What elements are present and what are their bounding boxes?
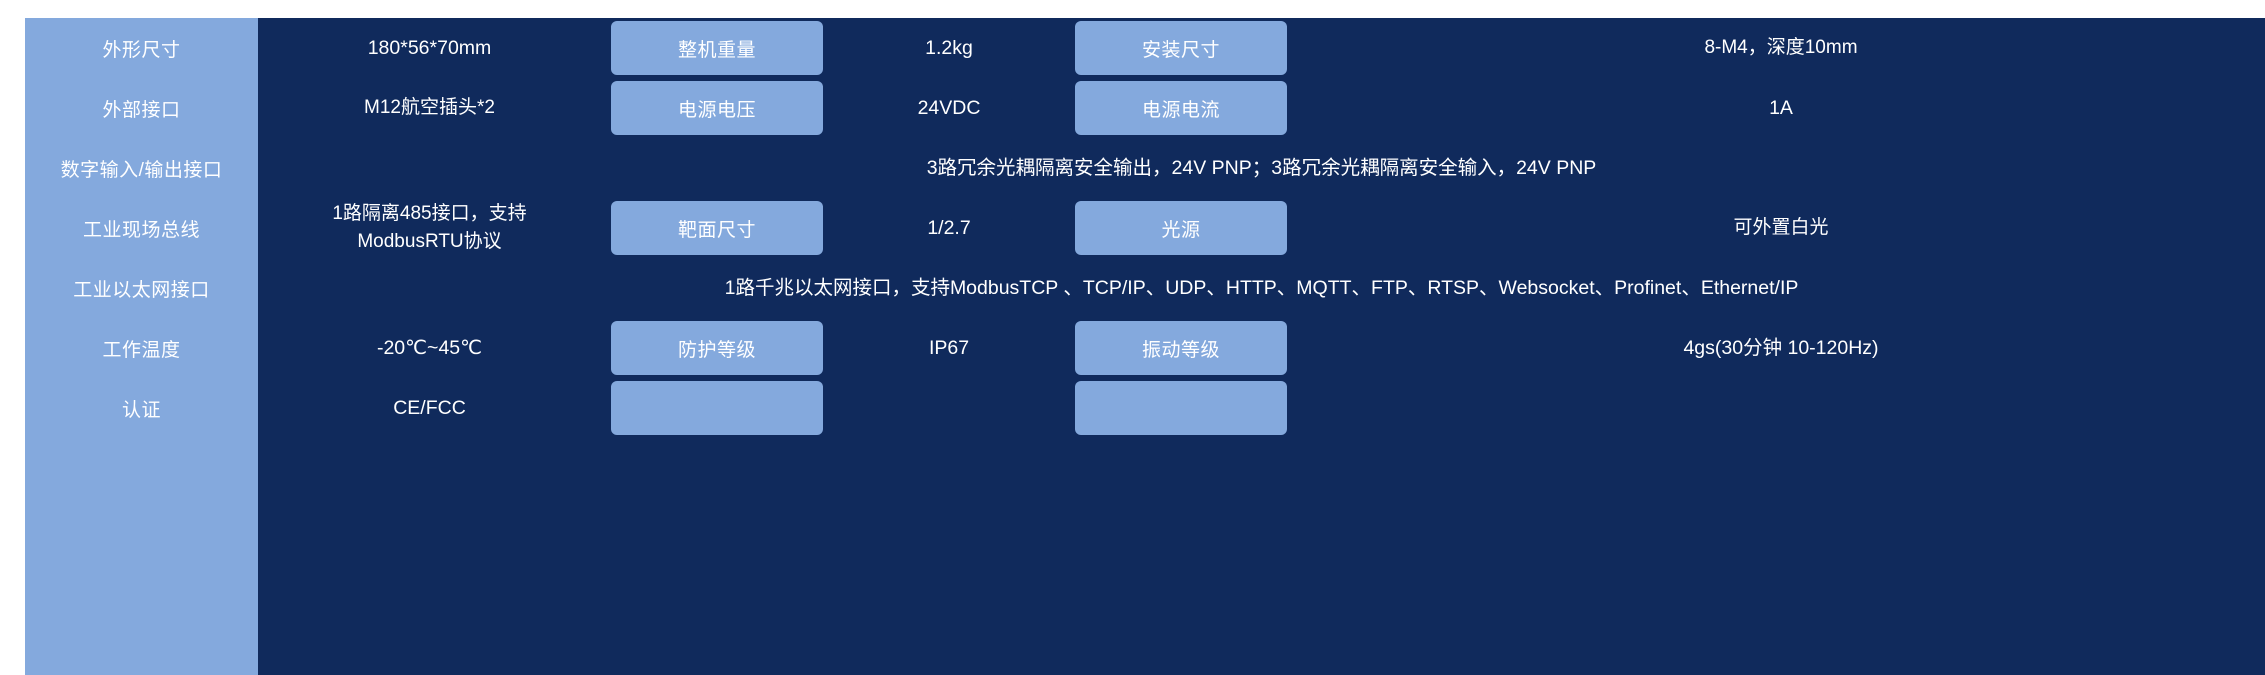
spec-chip-sensor-size: 靶面尺寸 <box>611 201 823 255</box>
spec-value-certification: CE/FCC <box>258 378 601 438</box>
spec-chip-light-source-wrap: 光源 <box>1065 198 1297 258</box>
spec-value-panel: 180*56*70mm 整机重量 1.2kg 安装尺寸 8-M4，深度10mm … <box>258 18 2265 675</box>
spec-value-vibration: 4gs(30分钟 10-120Hz) <box>1297 318 2265 378</box>
spec-chip-mounting-wrap: 安装尺寸 <box>1065 18 1297 78</box>
spec-value-ip-rating: IP67 <box>833 318 1065 378</box>
spec-value-empty-1 <box>833 378 1065 438</box>
spec-label-5: 工作温度 <box>25 318 258 378</box>
spec-label-4: 工业以太网接口 <box>25 258 258 318</box>
spec-chip-empty-2-wrap <box>1065 378 1297 438</box>
spec-value-digital-io: 3路冗余光耦隔离安全输出，24V PNP；3路冗余光耦隔离安全输入，24V PN… <box>258 138 2265 198</box>
spec-value-temperature: -20℃~45℃ <box>258 318 601 378</box>
spec-chip-vibration: 振动等级 <box>1075 321 1287 375</box>
spec-value-external-interface: M12航空插头*2 <box>258 78 601 138</box>
spec-value-empty-2 <box>1297 378 2265 438</box>
spec-chip-mounting: 安装尺寸 <box>1075 21 1287 75</box>
spec-chip-current: 电源电流 <box>1075 81 1287 135</box>
spec-chip-ip-rating-wrap: 防护等级 <box>601 318 833 378</box>
spec-chip-weight-wrap: 整机重量 <box>601 18 833 78</box>
table-row: 1路千兆以太网接口，支持ModbusTCP 、TCP/IP、UDP、HTTP、M… <box>258 258 2265 318</box>
spec-chip-voltage: 电源电压 <box>611 81 823 135</box>
spec-chip-ip-rating: 防护等级 <box>611 321 823 375</box>
table-row: CE/FCC <box>258 378 2265 438</box>
specification-table: 外形尺寸 外部接口 数字输入/输出接口 工业现场总线 工业以太网接口 工作温度 … <box>25 18 2265 675</box>
spec-value-dimensions: 180*56*70mm <box>258 18 601 78</box>
spec-value-ethernet: 1路千兆以太网接口，支持ModbusTCP 、TCP/IP、UDP、HTTP、M… <box>258 258 2265 318</box>
spec-value-fieldbus-line2: ModbusRTU协议 <box>357 228 501 256</box>
spec-chip-empty-1 <box>611 381 823 435</box>
spec-value-fieldbus: 1路隔离485接口，支持 ModbusRTU协议 <box>258 198 601 258</box>
spec-value-weight: 1.2kg <box>833 18 1065 78</box>
spec-chip-vibration-wrap: 振动等级 <box>1065 318 1297 378</box>
spec-chip-weight: 整机重量 <box>611 21 823 75</box>
spec-label-0: 外形尺寸 <box>25 18 258 78</box>
spec-chip-empty-1-wrap <box>601 378 833 438</box>
spec-value-current: 1A <box>1297 78 2265 138</box>
spec-value-sensor-size: 1/2.7 <box>833 198 1065 258</box>
table-row: -20℃~45℃ 防护等级 IP67 振动等级 4gs(30分钟 10-120H… <box>258 318 2265 378</box>
spec-label-2: 数字输入/输出接口 <box>25 138 258 198</box>
spec-chip-current-wrap: 电源电流 <box>1065 78 1297 138</box>
spec-chip-sensor-size-wrap: 靶面尺寸 <box>601 198 833 258</box>
spec-value-light-source: 可外置白光 <box>1297 198 2265 258</box>
table-row: 1路隔离485接口，支持 ModbusRTU协议 靶面尺寸 1/2.7 光源 可… <box>258 198 2265 258</box>
spec-chip-voltage-wrap: 电源电压 <box>601 78 833 138</box>
spec-label-column: 外形尺寸 外部接口 数字输入/输出接口 工业现场总线 工业以太网接口 工作温度 … <box>25 18 258 675</box>
spec-label-6: 认证 <box>25 378 258 438</box>
table-row: M12航空插头*2 电源电压 24VDC 电源电流 1A <box>258 78 2265 138</box>
spec-value-voltage: 24VDC <box>833 78 1065 138</box>
spec-chip-light-source: 光源 <box>1075 201 1287 255</box>
spec-value-mounting: 8-M4，深度10mm <box>1297 18 2265 78</box>
spec-label-3: 工业现场总线 <box>25 198 258 258</box>
spec-value-fieldbus-line1: 1路隔离485接口，支持 <box>332 200 526 228</box>
spec-chip-empty-2 <box>1075 381 1287 435</box>
table-row: 3路冗余光耦隔离安全输出，24V PNP；3路冗余光耦隔离安全输入，24V PN… <box>258 138 2265 198</box>
table-row: 180*56*70mm 整机重量 1.2kg 安装尺寸 8-M4，深度10mm <box>258 18 2265 78</box>
spec-label-1: 外部接口 <box>25 78 258 138</box>
